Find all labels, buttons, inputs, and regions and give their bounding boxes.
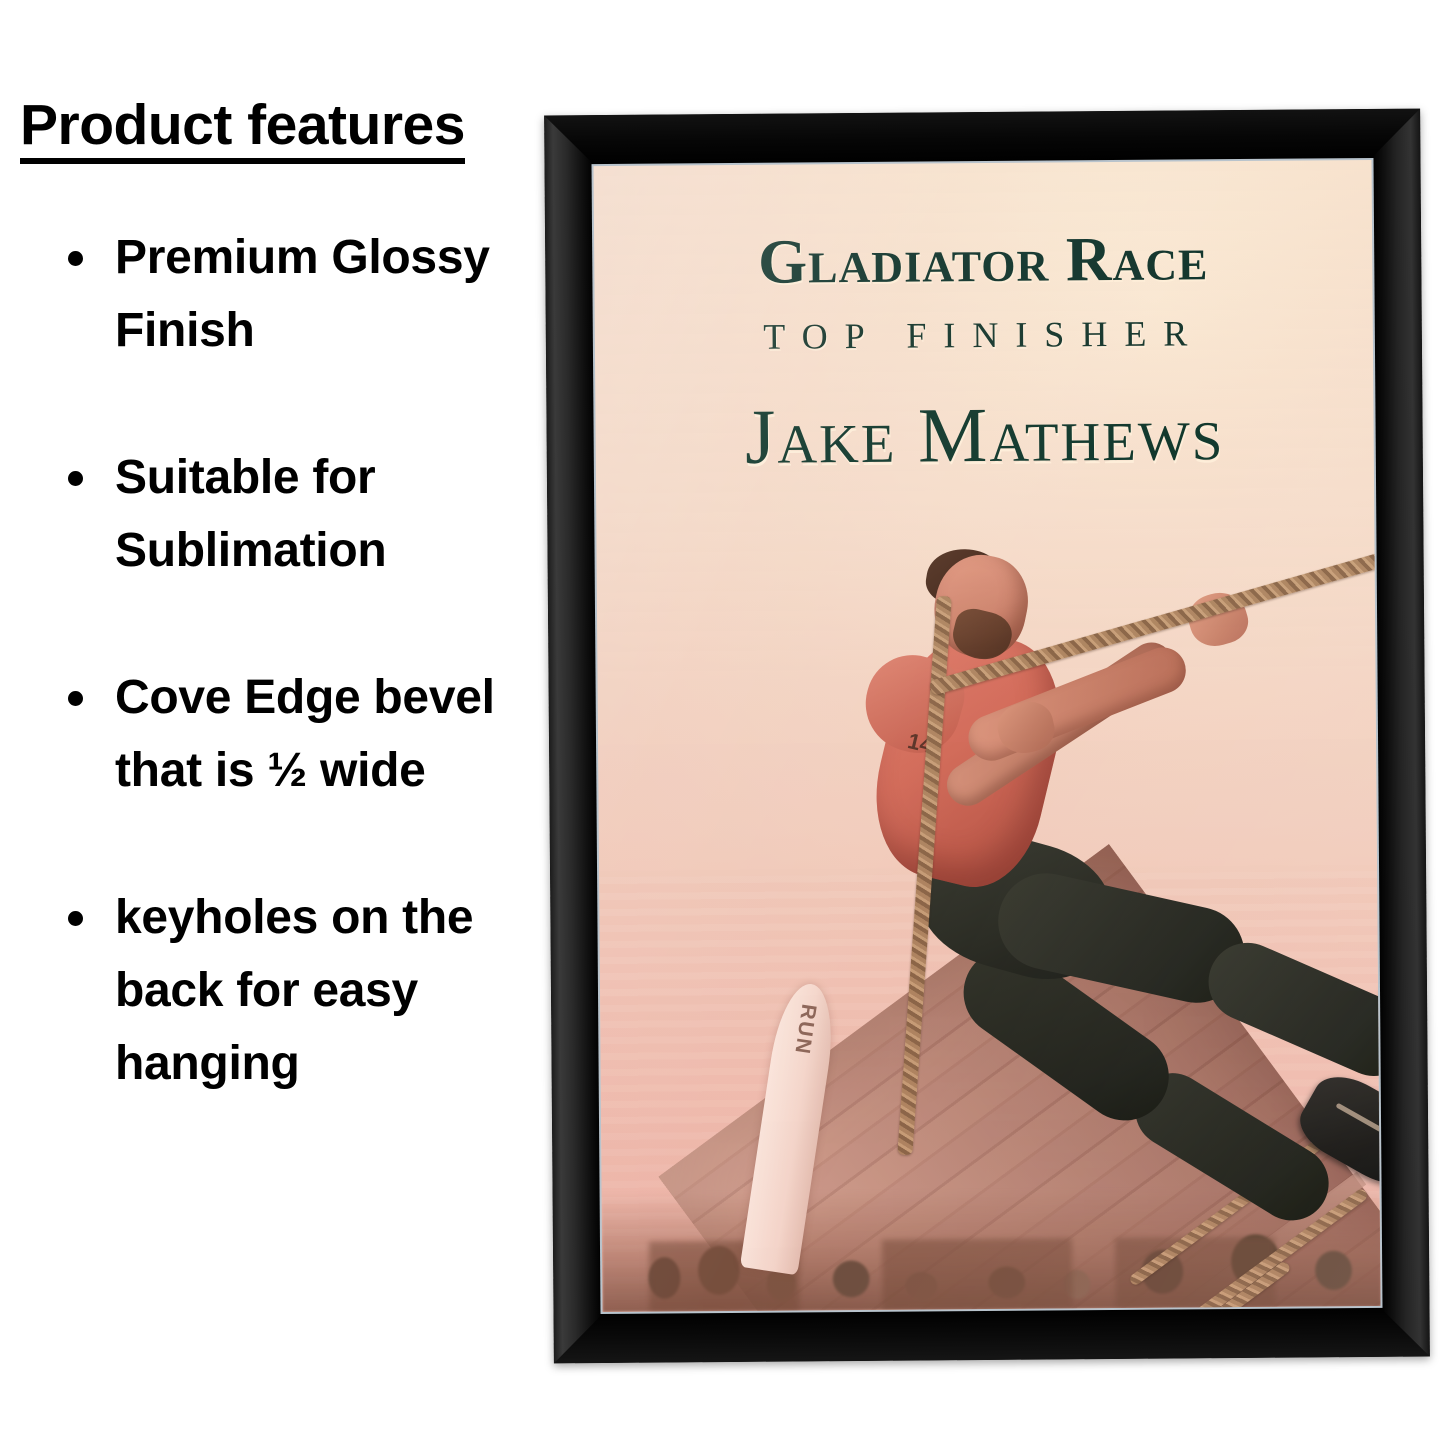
- sublimated-plate: RUN: [594, 160, 1381, 1312]
- list-item: Suitable for Sublimation: [0, 442, 540, 588]
- feature-text: Suitable for Sublimation: [115, 451, 386, 577]
- bullet-icon: [68, 911, 83, 926]
- award-subtitle: TOP FINISHER: [595, 311, 1373, 359]
- bullet-icon: [68, 471, 83, 486]
- bullet-icon: [68, 691, 83, 706]
- award-title: Gladiator Race: [594, 226, 1372, 295]
- product-features-panel: Product features Premium Glossy Finish S…: [0, 0, 540, 1445]
- frame-bevel-top: [544, 109, 1420, 166]
- leg-front-shin: [1196, 930, 1380, 1088]
- bullet-icon: [68, 251, 83, 266]
- frame-bevel-bottom: [554, 1307, 1430, 1364]
- features-list: Premium Glossy Finish Suitable for Subli…: [0, 222, 540, 1175]
- list-item: Premium Glossy Finish: [0, 222, 540, 368]
- feature-text: keyholes on the back for easy hanging: [115, 891, 473, 1090]
- recipient-name: Jake Mathews: [595, 387, 1374, 483]
- page-title: Product features: [20, 96, 465, 164]
- engraved-text-block: Gladiator Race TOP FINISHER Jake Mathews: [594, 226, 1374, 483]
- feature-text: Cove Edge bevel that is ½ wide: [115, 671, 495, 797]
- list-item: Cove Edge bevel that is ½ wide: [0, 662, 540, 808]
- plaque-product: RUN: [544, 109, 1430, 1364]
- feature-text: Premium Glossy Finish: [115, 231, 490, 357]
- list-item: keyholes on the back for easy hanging: [0, 882, 540, 1101]
- product-image-stage: Product features Premium Glossy Finish S…: [0, 0, 1445, 1445]
